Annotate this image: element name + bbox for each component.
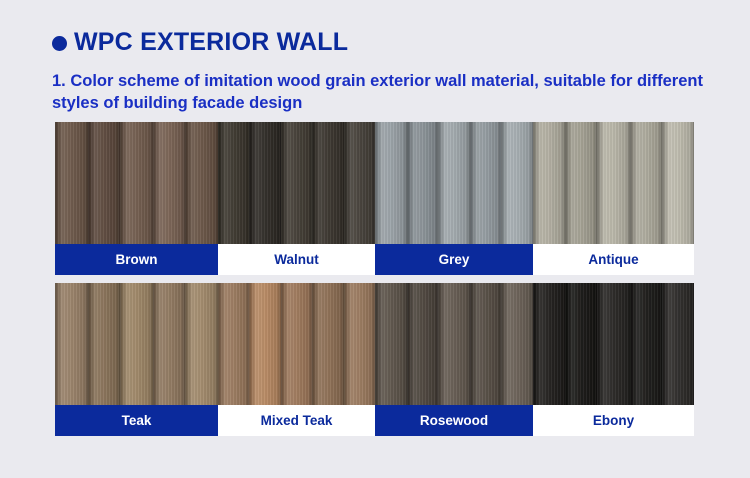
wood-slat — [88, 122, 121, 244]
wood-slat — [185, 122, 218, 244]
swatch-label-mixed-teak[interactable]: Mixed Teak — [218, 405, 375, 436]
swatch-strip-1 — [55, 122, 694, 244]
wood-slat — [344, 122, 375, 244]
wood-slat — [438, 283, 470, 405]
swatch-row-1: Brown Walnut Grey Antique — [55, 122, 694, 275]
swatch-label-grey[interactable]: Grey — [375, 244, 533, 275]
wood-slat — [88, 283, 121, 405]
wood-slat — [438, 122, 470, 244]
wood-slat — [630, 122, 662, 244]
wood-slat — [662, 122, 694, 244]
wood-slat — [597, 283, 629, 405]
wood-slat — [153, 122, 186, 244]
wood-slat — [407, 283, 439, 405]
swatch-panel-antique[interactable] — [533, 122, 694, 244]
swatch-panel-teak[interactable] — [55, 283, 218, 405]
swatch-panel-grey[interactable] — [375, 122, 533, 244]
wood-slat — [597, 122, 629, 244]
wood-slat — [185, 283, 218, 405]
wood-slat — [55, 283, 88, 405]
swatch-panel-mixed-teak[interactable] — [218, 283, 375, 405]
wood-slat — [407, 122, 439, 244]
label-strip-1: Brown Walnut Grey Antique — [55, 244, 694, 275]
wood-slat — [630, 283, 662, 405]
wood-slat — [281, 283, 312, 405]
swatch-label-teak[interactable]: Teak — [55, 405, 218, 436]
wood-slat — [662, 283, 694, 405]
swatch-label-brown[interactable]: Brown — [55, 244, 218, 275]
swatch-row-2: Teak Mixed Teak Rosewood Ebony — [55, 283, 694, 436]
wood-slat — [312, 283, 343, 405]
wpc-exterior-wall-page: WPC EXTERIOR WALL 1. Color scheme of imi… — [0, 0, 750, 478]
wood-slat — [533, 283, 565, 405]
swatch-panel-ebony[interactable] — [533, 283, 694, 405]
swatch-label-ebony[interactable]: Ebony — [533, 405, 694, 436]
swatch-panel-walnut[interactable] — [218, 122, 375, 244]
wood-slat — [565, 122, 597, 244]
label-strip-2: Teak Mixed Teak Rosewood Ebony — [55, 405, 694, 436]
wood-slat — [281, 122, 312, 244]
swatch-label-antique[interactable]: Antique — [533, 244, 694, 275]
wood-slat — [470, 283, 502, 405]
wood-slat — [120, 283, 153, 405]
wood-slat — [565, 283, 597, 405]
wood-slat — [312, 122, 343, 244]
subtitle-text: 1. Color scheme of imitation wood grain … — [52, 70, 712, 115]
wood-slat — [120, 122, 153, 244]
filled-circle-icon — [52, 36, 67, 51]
wood-slat — [375, 283, 407, 405]
wood-slat — [153, 283, 186, 405]
swatch-label-rosewood[interactable]: Rosewood — [375, 405, 533, 436]
wood-slat — [55, 122, 88, 244]
wood-slat — [249, 122, 280, 244]
wood-slat — [501, 283, 533, 405]
wood-slat — [533, 122, 565, 244]
page-title: WPC EXTERIOR WALL — [74, 30, 348, 55]
wood-slat — [344, 283, 375, 405]
wood-slat — [470, 122, 502, 244]
wood-slat — [249, 283, 280, 405]
swatch-panel-rosewood[interactable] — [375, 283, 533, 405]
swatch-label-walnut[interactable]: Walnut — [218, 244, 375, 275]
swatch-strip-2 — [55, 283, 694, 405]
wood-slat — [218, 283, 249, 405]
swatch-panel-brown[interactable] — [55, 122, 218, 244]
wood-slat — [375, 122, 407, 244]
page-heading: WPC EXTERIOR WALL — [52, 30, 348, 55]
wood-slat — [218, 122, 249, 244]
wood-slat — [501, 122, 533, 244]
